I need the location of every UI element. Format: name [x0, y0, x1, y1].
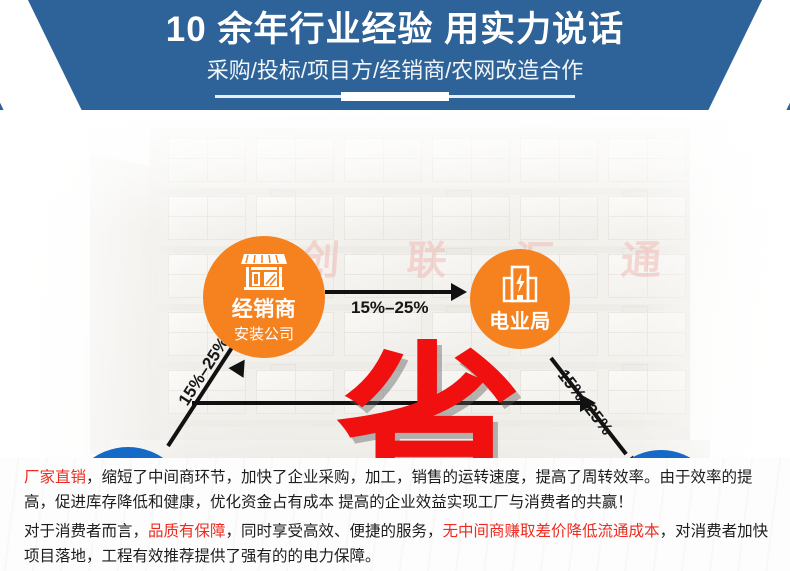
header-title: 10 余年行业经验 用实力说话 [0, 8, 790, 52]
para2-run-2: ，同时享受高效、便捷的服务， [226, 523, 443, 540]
node-bureau-label: 电业局 [489, 312, 551, 333]
para1-run-1: ，缩短了中间商环节，加快了企业采购，加工，销售的运转速度，提高了周转效率。由于效… [24, 469, 753, 511]
header-banner: 10 余年行业经验 用实力说话 采购/投标/项目方/经销商/农网改造合作 [0, 0, 790, 110]
arrow-company-to-consumer-head [580, 394, 596, 412]
promo-infographic: 10 余年行业经验 用实力说话 采购/投标/项目方/经销商/农网改造合作 创 联… [0, 0, 790, 571]
node-dealer-label: 经销商 [232, 299, 297, 321]
arrow-label-dealer-to-bureau: 15%–25% [351, 298, 429, 318]
arrow-dealer-to-bureau-line [325, 290, 453, 294]
para2-run-1: 品质有保障 [148, 523, 226, 540]
footer-paragraph-1: 厂家直销，缩短了中间商环节，加快了企业采购，加工，销售的运转速度，提高了周转效率… [24, 465, 772, 515]
flow-diagram: 创 联 汇 通 15%–25% 15%–25% 15%–25% 省 在这里省了中… [0, 110, 790, 460]
building-window [256, 370, 334, 414]
node-dealer[interactable]: 经销商 安装公司 [203, 236, 325, 358]
savings-character: 省 [336, 342, 522, 460]
footer-paragraph-2: 对于消费者而言，品质有保障，同时享受高效、便捷的服务，无中间商赚取差价降低流通成… [24, 519, 772, 569]
node-dealer-sublabel: 安装公司 [234, 323, 294, 344]
para1-run-0: 厂家直销 [24, 469, 86, 486]
header-subtitle: 采购/投标/项目方/经销商/农网改造合作 [0, 56, 790, 86]
arrow-dealer-to-bureau-head [451, 283, 467, 301]
para2-run-0: 对于消费者而言， [24, 523, 148, 540]
header-divider [0, 92, 790, 100]
diagram-haze-left [0, 110, 190, 460]
para2-run-3: 无中间商赚取差价降低流通成本 [443, 523, 660, 540]
shop-icon [240, 250, 288, 295]
header-divider-thick [341, 92, 449, 101]
node-bureau[interactable]: 电业局 [470, 249, 570, 349]
footer-description: 厂家直销，缩短了中间商环节，加快了企业采购，加工，销售的运转速度，提高了周转效率… [0, 458, 790, 571]
power-building-icon [500, 265, 540, 308]
